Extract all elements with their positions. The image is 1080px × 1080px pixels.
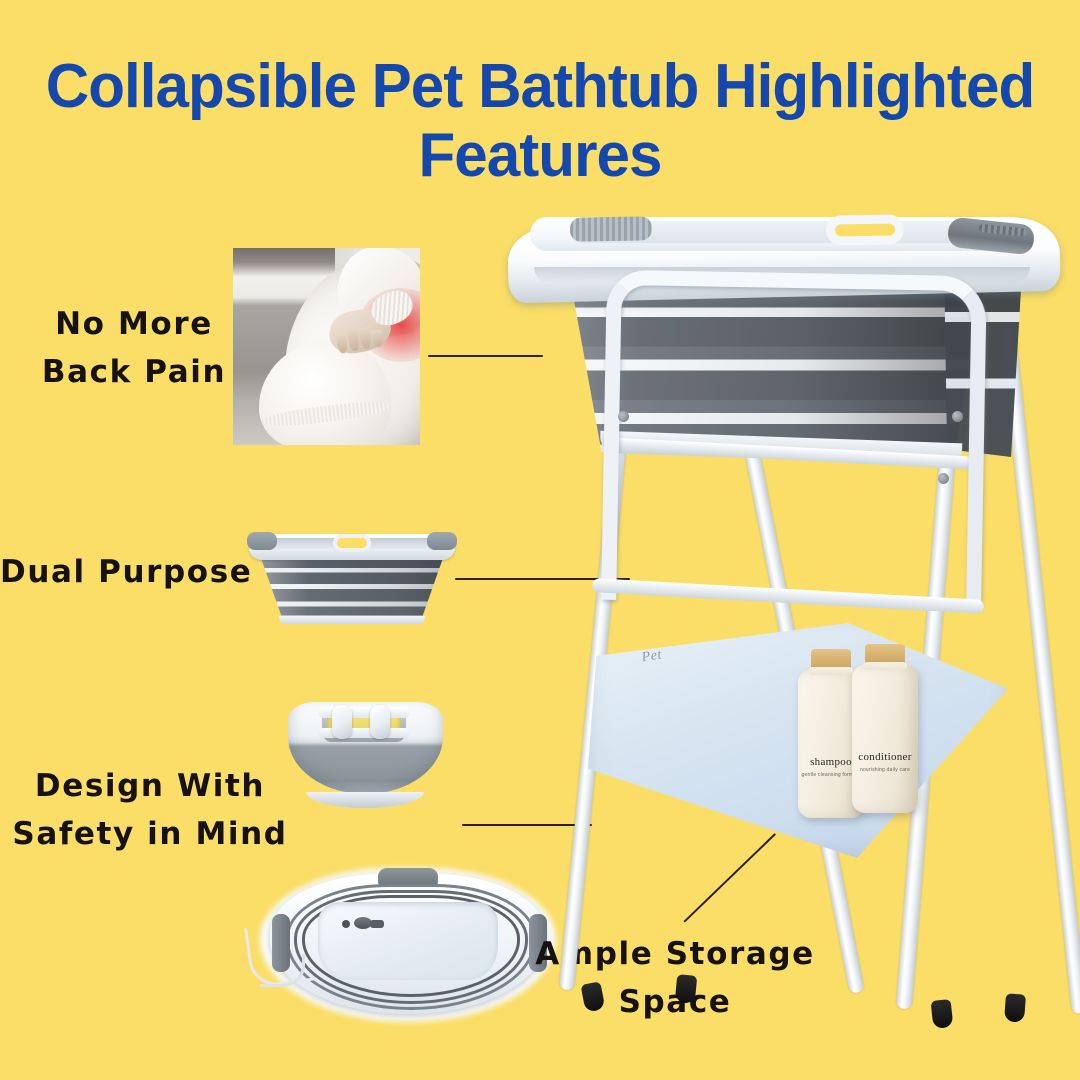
product-image-bathtub-stand: Pet shampoo gentle cleansing formula con… [500, 215, 1080, 1065]
collapsible-tub-side-view-image [247, 530, 457, 626]
infographic-poster: Collapsible Pet Bathtub Highlighted Feat… [0, 0, 1080, 1080]
stand-foot-front-left [581, 981, 606, 1012]
back-pain-photo [233, 248, 420, 445]
handle-hinge-closeup-image [288, 702, 443, 810]
hinge-knuckle-right [370, 705, 390, 739]
conditioner-bottle: conditioner nourishing daily care [852, 665, 918, 813]
drain-plug-tail [370, 920, 384, 928]
stand-foot-far-right [931, 999, 954, 1029]
stand-pivot-right [952, 411, 963, 422]
tub-pleated-body [261, 558, 443, 620]
tub-carry-handle [826, 214, 905, 245]
stand-front-u-frame [601, 270, 987, 607]
feature-label-safety: Design With Safety in Mind [10, 762, 290, 858]
feature-label-back-pain-line-2: Back Pain [28, 348, 240, 396]
conditioner-bottle-neck [863, 662, 907, 670]
conditioner-bottle-sublabel: nourishing daily care [852, 767, 918, 775]
tub-lower-lip [306, 792, 424, 808]
shampoo-bottle-neck [809, 667, 853, 675]
tub-grip-right [427, 532, 457, 550]
conditioner-bottle-label: conditioner [852, 751, 918, 763]
tub-inner-base [318, 902, 498, 980]
feature-label-dual-purpose: Dual Purpose [0, 548, 250, 596]
feature-label-dual-purpose-line-1: Dual Purpose [0, 548, 250, 596]
feature-label-back-pain: No More Back Pain [28, 300, 240, 396]
tub-grip-left [247, 532, 277, 550]
hinge-knuckle-left [332, 705, 352, 739]
drain-plug [342, 920, 350, 928]
tub-base [279, 616, 425, 624]
title-line-1: Collapsible Pet Bathtub Highlighted [16, 52, 1064, 121]
page-title: Collapsible Pet Bathtub Highlighted Feat… [16, 52, 1064, 191]
tub-grip-left [570, 216, 652, 241]
stand-pivot-left [618, 411, 629, 422]
tub-handle-hole [333, 534, 371, 552]
stand-foot-back-left [675, 974, 698, 1004]
feature-label-back-pain-line-1: No More [28, 300, 240, 348]
stand-foot-right [1004, 993, 1026, 1022]
feature-label-safety-line-1: Design With [10, 762, 290, 810]
stand-pivot-lower [938, 473, 949, 484]
title-line-2: Features [16, 121, 1064, 190]
feature-label-safety-line-2: Safety in Mind [10, 810, 290, 858]
